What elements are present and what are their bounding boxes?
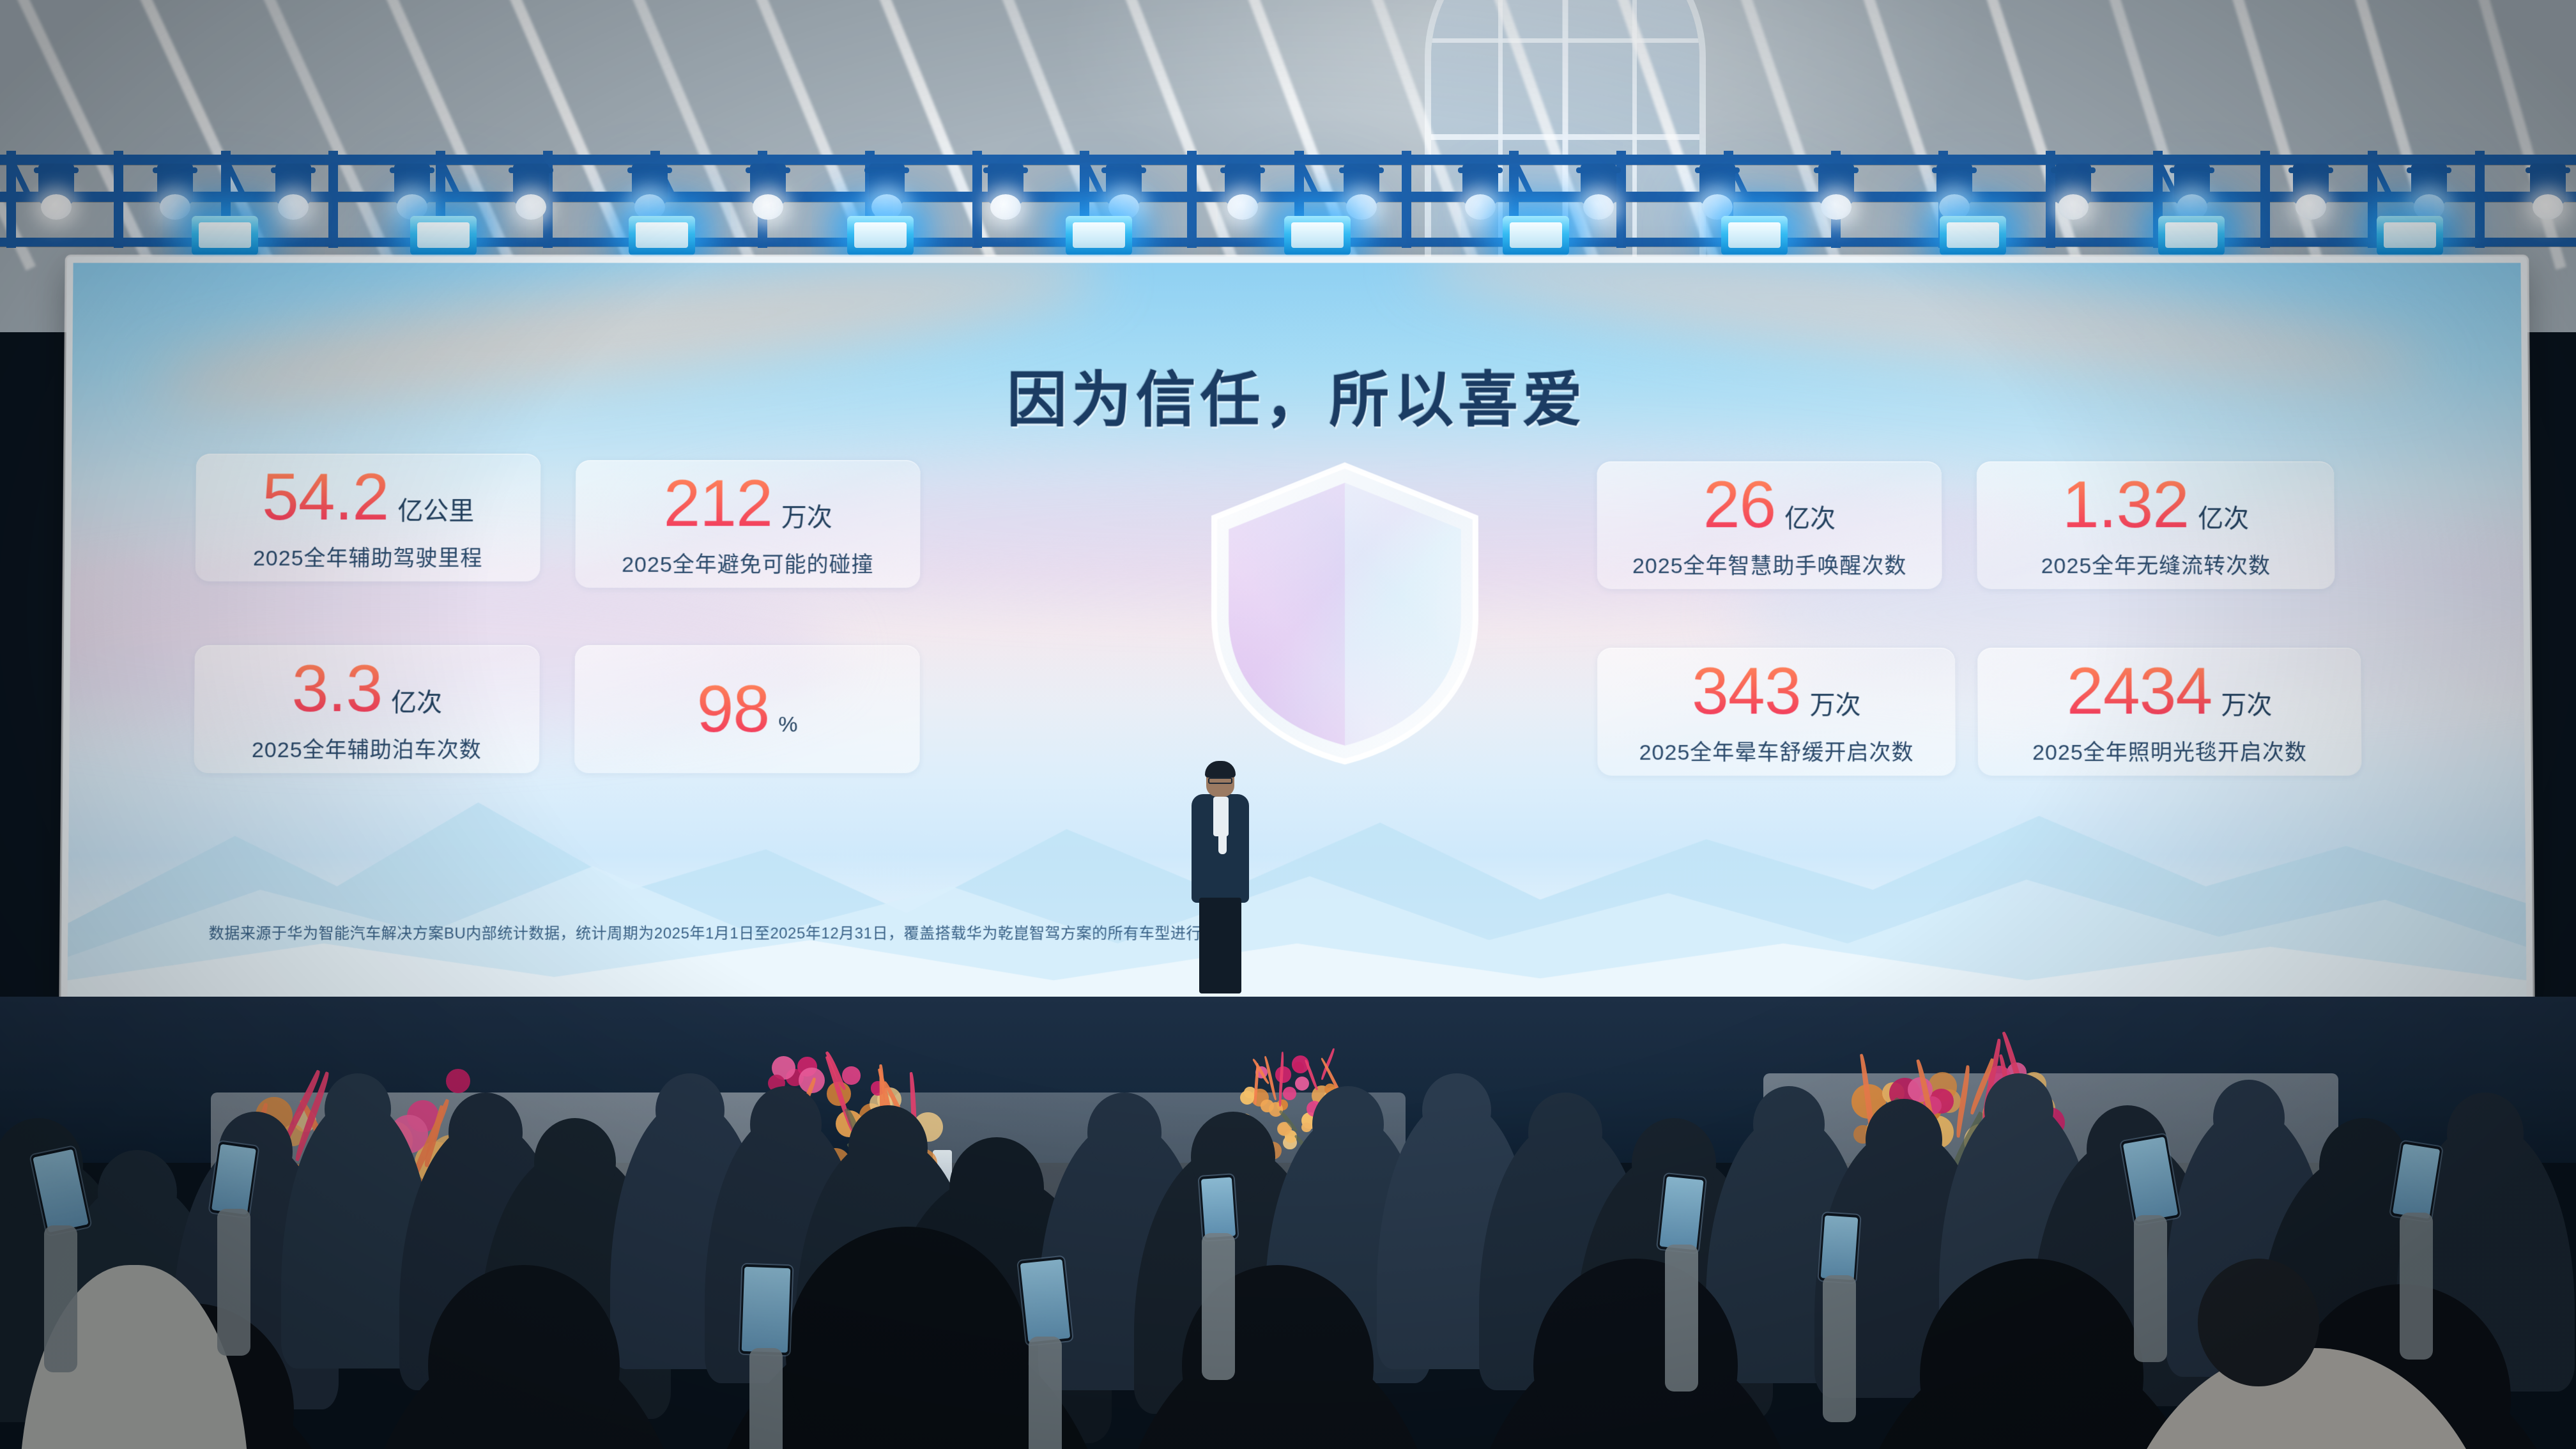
moving-head-spotlight <box>2055 164 2091 204</box>
flower-bloom-pink <box>1295 1077 1309 1091</box>
led-wash-panel <box>410 216 477 256</box>
spotlight-yoke <box>2407 167 2451 173</box>
led-wash-panel <box>192 216 258 256</box>
audience-head <box>98 1150 177 1235</box>
moving-head-spotlight <box>1581 164 1616 204</box>
moving-head-spotlight <box>1106 164 1142 204</box>
stat-label: 2025全年避免可能的碰撞 <box>622 547 874 578</box>
flower-bloom-pink <box>1283 1087 1296 1100</box>
raised-arm <box>749 1348 783 1449</box>
stat-card-headline: 54.2亿公里 <box>262 464 475 530</box>
moving-head-spotlight <box>1936 164 1972 204</box>
screenshot-root: 因为信任，所以喜爱 <box>0 0 2576 1449</box>
moving-head-spotlight <box>1699 164 1735 204</box>
spotlight-yoke <box>983 167 1028 173</box>
audience-head <box>325 1073 391 1145</box>
truss-post <box>1402 151 1411 248</box>
moving-head-spotlight <box>394 164 430 204</box>
led-wash-panel <box>1721 216 1788 256</box>
stat-card: 3.3亿次2025全年辅助泊车次数 <box>194 645 539 773</box>
led-wash-panel <box>1066 216 1132 256</box>
stat-label: 2025全年辅助泊车次数 <box>252 732 482 763</box>
stat-card-headline: 26亿次 <box>1703 471 1836 538</box>
spotlight-yoke <box>271 167 316 173</box>
phone-screen <box>1821 1215 1859 1280</box>
moving-head-spotlight <box>750 164 786 204</box>
audience-head <box>848 1105 928 1190</box>
stat-unit: 亿次 <box>391 682 442 719</box>
stat-unit: 万次 <box>2221 684 2272 721</box>
stat-card-headline: 2434万次 <box>2067 658 2273 724</box>
moving-head-spotlight <box>275 164 311 204</box>
truss-post <box>2046 151 2055 248</box>
spotlight-lens <box>41 194 72 220</box>
raised-phone <box>1657 1174 1706 1253</box>
raised-arm <box>2400 1213 2433 1360</box>
stat-card: 343万次2025全年晕车舒缓开启次数 <box>1597 648 1956 776</box>
flower-bloom-pink <box>842 1066 860 1084</box>
moving-head-spotlight <box>157 164 193 204</box>
spotlight-lens <box>753 194 783 220</box>
moving-head-spotlight <box>2411 164 2447 204</box>
spotlight-yoke <box>864 167 909 173</box>
spotlight-lens <box>1583 194 1614 220</box>
audience-head <box>2447 1092 2524 1175</box>
moving-head-spotlight <box>1818 164 1854 204</box>
stat-card: 2434万次2025全年照明光毯开启次数 <box>1977 648 2361 776</box>
audience-head <box>1087 1092 1161 1172</box>
spotlight-yoke <box>627 167 672 173</box>
flower-bloom <box>1301 1123 1312 1133</box>
spotlight-yoke <box>2170 167 2214 173</box>
phone-screen <box>1201 1177 1236 1238</box>
spotlight-lens <box>516 194 546 220</box>
audience-head <box>1422 1073 1491 1147</box>
truss-post <box>972 151 982 248</box>
spotlight-yoke <box>2051 167 2096 173</box>
moving-head-spotlight <box>2293 164 2329 204</box>
raised-arm <box>44 1225 77 1372</box>
audience-head <box>1984 1073 2053 1147</box>
stat-value: 343 <box>1692 658 1801 724</box>
spotlight-yoke <box>1101 167 1146 173</box>
raised-arm <box>1823 1275 1856 1422</box>
stat-value: 1.32 <box>2062 471 2189 538</box>
phone-screen <box>211 1144 256 1215</box>
truss-post <box>114 151 123 248</box>
stat-value: 26 <box>1703 471 1775 538</box>
truss-post <box>1616 151 1626 248</box>
stat-card: 54.2亿公里2025全年辅助驾驶里程 <box>195 454 541 581</box>
spotlight-yoke <box>509 167 553 173</box>
stat-value: 2434 <box>2067 658 2212 724</box>
audience-head <box>1528 1092 1602 1172</box>
stat-unit: 亿次 <box>2198 498 2249 535</box>
stat-unit: % <box>778 712 797 737</box>
audience-head-light <box>2198 1259 2319 1386</box>
spotlight-yoke <box>1220 167 1265 173</box>
moving-head-spotlight <box>2530 164 2566 204</box>
stat-card: 26亿次2025全年智慧助手唤醒次数 <box>1597 461 1942 589</box>
moving-head-spotlight <box>513 164 549 204</box>
stat-value: 54.2 <box>262 464 389 530</box>
audience-head <box>2213 1080 2285 1156</box>
stat-unit: 亿公里 <box>397 490 474 527</box>
moving-head-spotlight <box>1225 164 1261 204</box>
spotlight-yoke <box>390 167 434 173</box>
spotlight-yoke <box>1339 167 1384 173</box>
stat-card: 212万次2025全年避免可能的碰撞 <box>575 460 920 588</box>
led-wash-panel <box>629 216 695 256</box>
stat-card-headline: 1.32亿次 <box>2062 471 2250 538</box>
spotlight-lens <box>160 194 190 220</box>
audience-head <box>655 1073 724 1147</box>
spotlight-yoke <box>2526 167 2570 173</box>
moving-head-spotlight <box>2174 164 2210 204</box>
led-wash-panel <box>847 216 914 256</box>
stat-card-headline: 343万次 <box>1692 658 1861 724</box>
spotlight-lens <box>1227 194 1258 220</box>
led-wash-panel <box>2377 216 2443 256</box>
spotlight-yoke <box>2288 167 2333 173</box>
stat-value: 3.3 <box>291 655 382 721</box>
spotlight-lens <box>990 194 1021 220</box>
audience-head <box>1312 1086 1384 1163</box>
moving-head-spotlight <box>988 164 1023 204</box>
led-wash-panel <box>1284 216 1351 256</box>
led-wash-panel <box>1503 216 1569 256</box>
audience-foreground <box>0 818 2576 1449</box>
audience-head <box>949 1137 1044 1239</box>
stat-label: 2025全年辅助驾驶里程 <box>253 540 483 572</box>
raised-arm <box>1202 1233 1235 1380</box>
moving-head-spotlight <box>1344 164 1379 204</box>
audience-head <box>1753 1086 1825 1163</box>
spotlight-lens <box>1821 194 1851 220</box>
spotlight-yoke <box>153 167 197 173</box>
spotlight-lens <box>2296 194 2326 220</box>
stat-value: 98 <box>696 676 769 742</box>
audience-head <box>750 1086 822 1163</box>
stat-unit: 万次 <box>1810 684 1861 721</box>
stat-unit: 亿次 <box>1784 498 1836 535</box>
audience-head <box>1866 1099 1942 1181</box>
stat-card: 1.32亿次2025全年无缝流转次数 <box>1977 461 2335 589</box>
stat-unit: 万次 <box>781 496 832 533</box>
audience-head <box>448 1092 523 1172</box>
spotlight-lens <box>1346 194 1377 220</box>
audience-head <box>534 1118 616 1206</box>
stat-card-headline: 98% <box>696 676 797 742</box>
phone-screen <box>742 1267 791 1353</box>
led-wash-panel <box>2158 216 2225 256</box>
truss-post <box>2475 151 2485 248</box>
raised-arm <box>217 1209 250 1356</box>
raised-phone <box>1199 1174 1238 1241</box>
moving-head-spotlight <box>632 164 668 204</box>
moving-head-spotlight <box>38 164 74 204</box>
spotlight-yoke <box>1458 167 1503 173</box>
stat-label: 2025全年照明光毯开启次数 <box>2032 735 2307 766</box>
stat-label: 2025全年智慧助手唤醒次数 <box>1632 548 1907 579</box>
spotlight-yoke <box>746 167 790 173</box>
stat-card-headline: 212万次 <box>663 470 832 537</box>
spotlight-yoke <box>1932 167 1977 173</box>
spotlight-lens <box>2533 194 2563 220</box>
spotlight-yoke <box>1576 167 1621 173</box>
spotlight-lens <box>1465 194 1496 220</box>
spotlight-lens <box>2058 194 2089 220</box>
spotlight-yoke <box>1695 167 1740 173</box>
stat-label: 2025全年无缝流转次数 <box>2041 548 2271 579</box>
raised-phone <box>740 1264 793 1356</box>
raised-phone <box>1818 1213 1860 1283</box>
phone-screen <box>1020 1259 1071 1342</box>
stat-label: 2025全年晕车舒缓开启次数 <box>1639 735 1914 766</box>
spotlight-yoke <box>1814 167 1859 173</box>
truss-post <box>1187 151 1197 248</box>
truss-post <box>2260 151 2270 248</box>
raised-arm <box>1029 1337 1062 1449</box>
flower-bloom-pink <box>446 1069 470 1093</box>
led-wash-panel <box>1940 216 2006 256</box>
raised-arm <box>2134 1215 2167 1362</box>
spotlight-yoke <box>34 167 79 173</box>
moving-head-spotlight <box>869 164 905 204</box>
stat-card: 98% <box>574 645 920 773</box>
truss-post <box>328 151 338 248</box>
raised-arm <box>1665 1245 1698 1391</box>
stat-value: 212 <box>663 470 772 537</box>
stat-card-headline: 3.3亿次 <box>291 655 442 721</box>
flower-spike <box>1319 1048 1335 1080</box>
moving-head-spotlight <box>1462 164 1498 204</box>
phone-screen <box>1659 1176 1703 1250</box>
raised-phone <box>1018 1257 1072 1345</box>
